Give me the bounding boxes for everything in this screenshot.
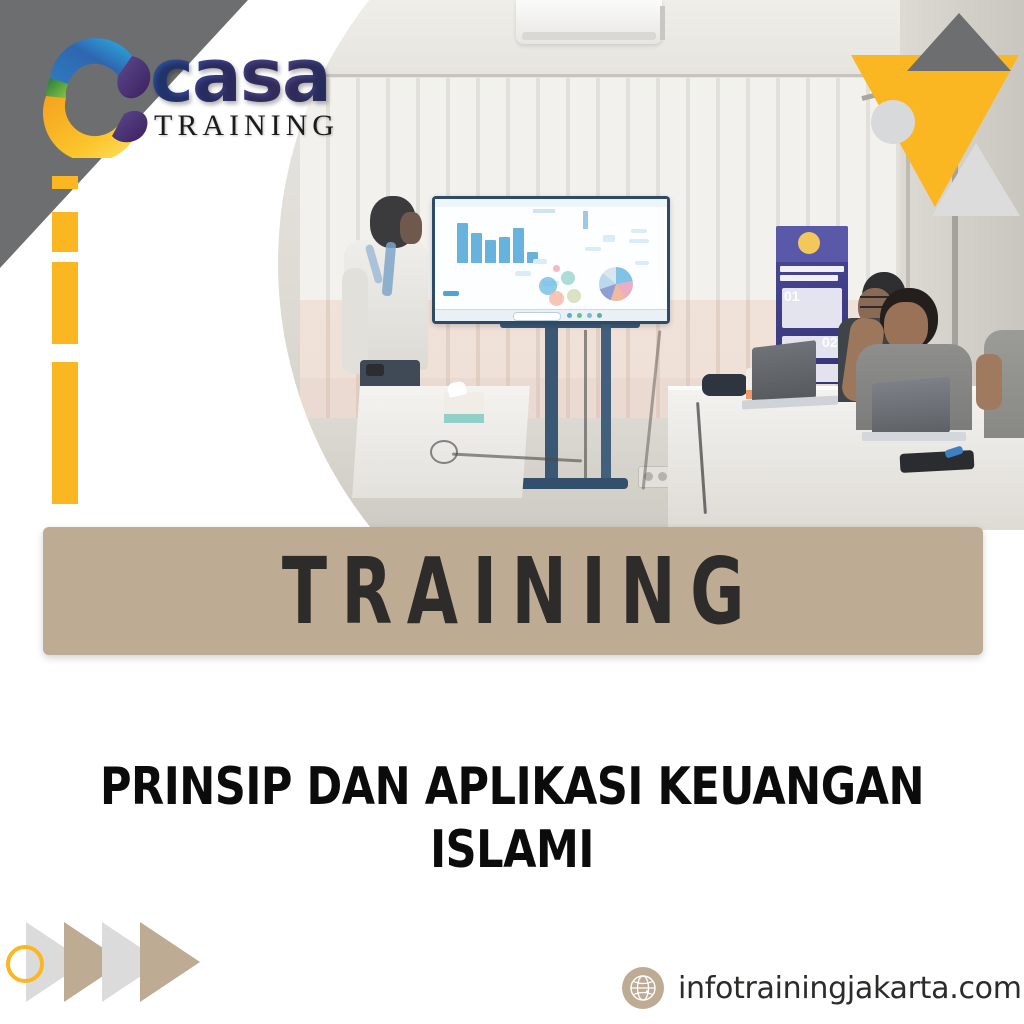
ac-pipe bbox=[660, 6, 665, 40]
rollup-banner-icon bbox=[798, 232, 820, 254]
yellow-dash-1 bbox=[52, 176, 78, 189]
presenter-watch bbox=[366, 364, 384, 376]
dashboard-header-chip bbox=[533, 209, 555, 213]
brand-logo[interactable]: casa TRAINING bbox=[32, 18, 332, 158]
laptop-2-base bbox=[862, 432, 966, 441]
poster-title: PRINSIP DAN APLIKASI KEUANGAN ISLAMI bbox=[41, 756, 983, 883]
air-conditioner bbox=[516, 0, 662, 44]
yellow-dash-2 bbox=[52, 212, 78, 252]
chevron-4 bbox=[140, 922, 200, 1002]
dashboard-topbar bbox=[435, 199, 667, 207]
dashboard-bubble bbox=[549, 291, 564, 306]
tv-stand-right bbox=[601, 324, 611, 482]
poster-title-line-1: PRINSIP DAN APLIKASI KEUANGAN bbox=[41, 756, 983, 819]
yellow-dash-4 bbox=[52, 362, 78, 504]
interactive-display bbox=[432, 196, 670, 324]
laptop-2-screen bbox=[872, 377, 950, 440]
gray-circle bbox=[871, 100, 915, 144]
dashboard-tile bbox=[603, 235, 615, 242]
dashboard-tile bbox=[635, 261, 649, 265]
dashboard-bar bbox=[513, 228, 524, 263]
brand-name: casa bbox=[150, 46, 339, 107]
laptop-1-screen bbox=[752, 340, 816, 406]
training-banner: TRAINING bbox=[43, 527, 983, 655]
presenter-arm bbox=[342, 268, 368, 374]
yellow-dash-3 bbox=[52, 262, 78, 344]
globe-icon bbox=[622, 967, 664, 1009]
tv-cable bbox=[584, 330, 587, 478]
rollup-banner-number-2: 02 bbox=[822, 334, 838, 350]
presenter-face bbox=[400, 212, 422, 244]
display-toolbar bbox=[435, 309, 667, 321]
training-banner-label: TRAINING bbox=[267, 538, 758, 645]
phone-on-table bbox=[900, 450, 975, 473]
tissue-box-band bbox=[444, 414, 484, 423]
dashboard-tile bbox=[629, 239, 649, 243]
participant-3-arm bbox=[976, 354, 1002, 410]
dashboard-side-chip bbox=[583, 211, 588, 229]
dashboard-tile bbox=[515, 271, 531, 276]
toolbar-dot bbox=[587, 313, 592, 318]
participant-2-face bbox=[884, 302, 928, 350]
photo-ceiling-line bbox=[300, 74, 920, 77]
rollup-banner-title-line1 bbox=[780, 266, 844, 272]
chevron-group bbox=[26, 922, 206, 1002]
yellow-ring-icon bbox=[6, 945, 44, 983]
poster-title-line-2: ISLAMI bbox=[41, 819, 983, 882]
dashboard-bar bbox=[457, 223, 468, 263]
dashboard-bar bbox=[485, 240, 496, 263]
dashboard-bar-chart bbox=[457, 219, 538, 263]
display-toolbar-pill bbox=[513, 312, 561, 321]
dashboard-button bbox=[443, 291, 459, 296]
tv-stand-base bbox=[508, 478, 628, 489]
dashboard-pie-chart bbox=[599, 267, 633, 301]
dashboard-bubble bbox=[567, 289, 581, 303]
website-url: infotrainingjakarta.com bbox=[678, 971, 1022, 1006]
toolbar-dot bbox=[597, 313, 602, 318]
brand-wordmark: casa TRAINING bbox=[150, 46, 339, 143]
dashboard-tile bbox=[585, 247, 601, 251]
rollup-banner-number-1: 01 bbox=[784, 288, 800, 304]
dashboard-tile bbox=[533, 259, 547, 264]
toolbar-dot bbox=[567, 313, 572, 318]
poster-root: 01 02 bbox=[0, 0, 1024, 1024]
dashboard-bubble bbox=[561, 271, 575, 285]
toolbar-dot bbox=[577, 313, 582, 318]
dashboard-bar bbox=[499, 237, 510, 263]
dashboard-bar bbox=[471, 233, 482, 263]
rollup-banner-title-line2 bbox=[780, 275, 838, 281]
display-screen bbox=[435, 199, 667, 310]
dashboard-bubble bbox=[553, 265, 560, 272]
dashboard-tile bbox=[631, 229, 647, 233]
website-footer[interactable]: infotrainingjakarta.com bbox=[622, 966, 1022, 1010]
bag-on-table bbox=[702, 374, 748, 396]
